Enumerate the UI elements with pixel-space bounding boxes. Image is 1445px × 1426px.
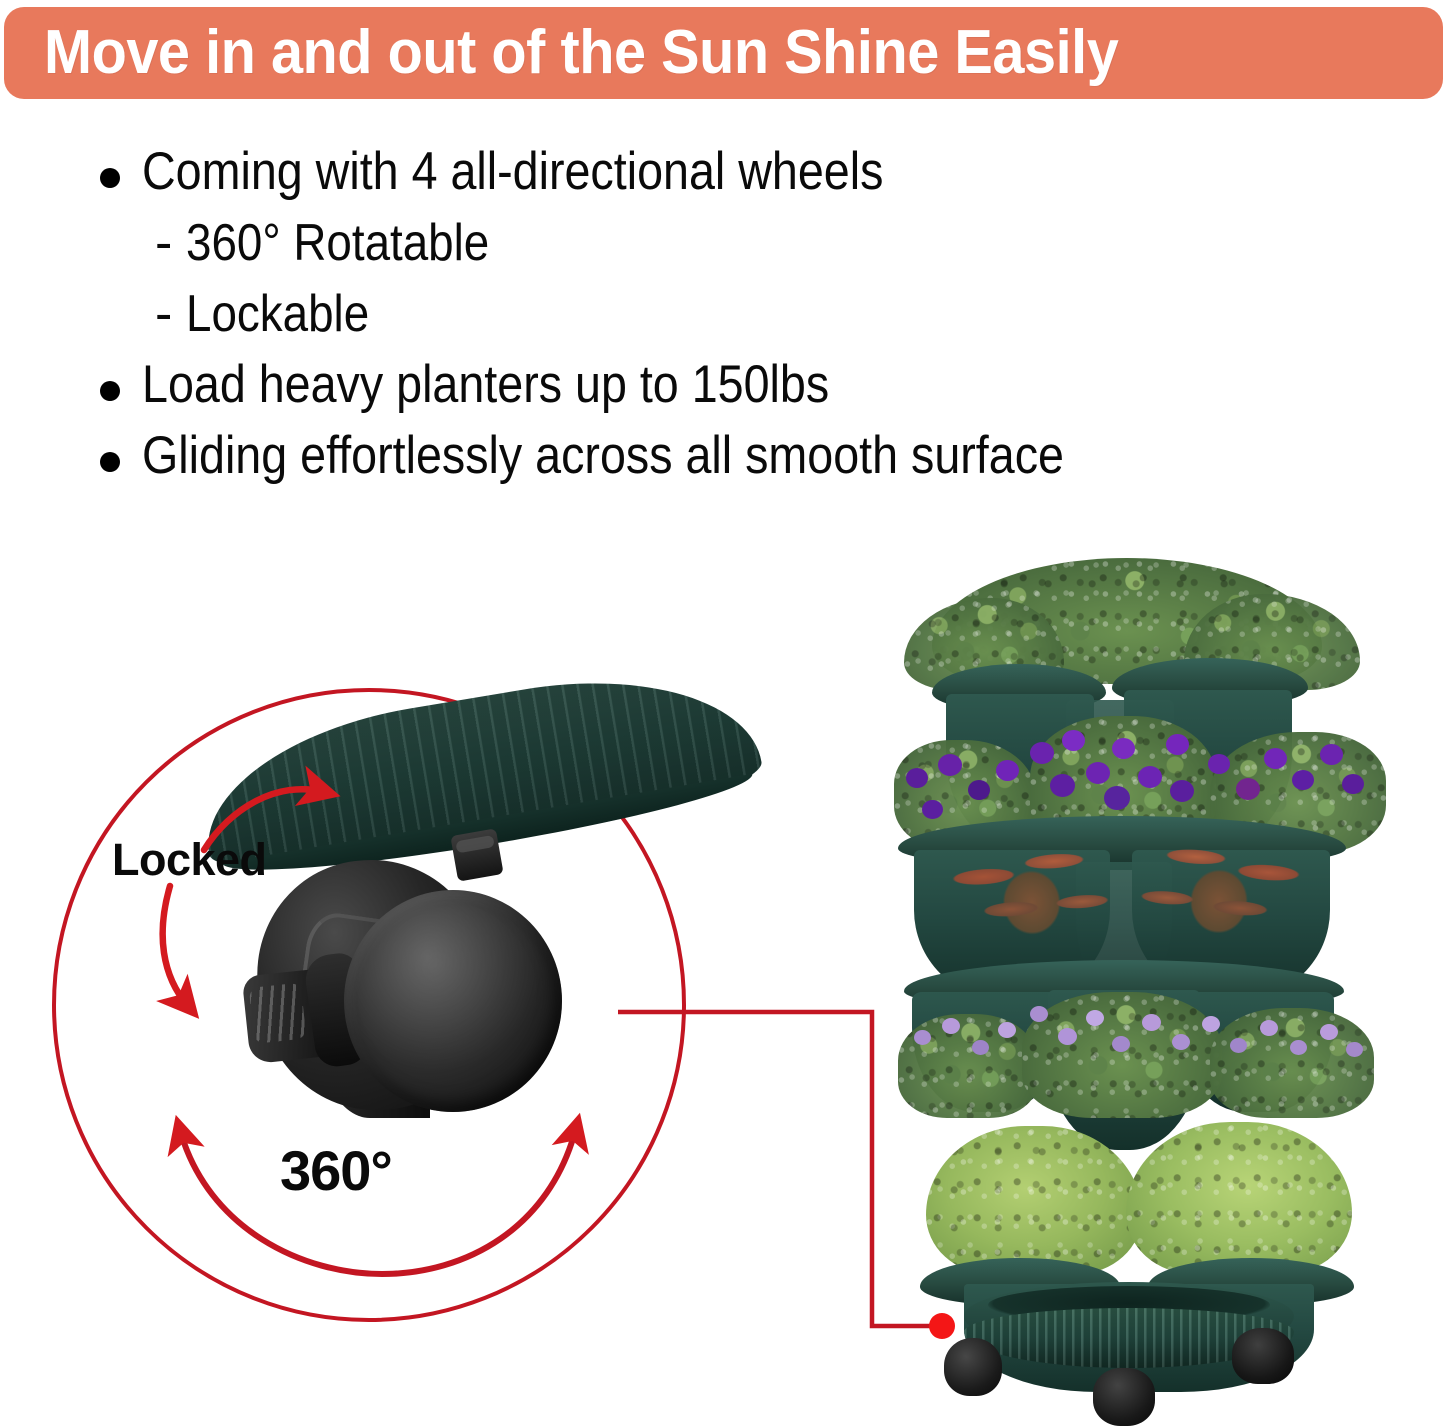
caster-front-center	[1093, 1368, 1155, 1426]
red-foliage-left	[922, 819, 1141, 965]
rotation-label: 360°	[280, 1138, 392, 1203]
callout-arrow-group	[52, 688, 686, 1322]
caster-rear-right	[1232, 1328, 1294, 1384]
feature-item-wheels: Coming with 4 all-directional wheels	[100, 142, 1430, 202]
feature-item-lockable: - Lockable	[155, 284, 1430, 344]
feature-label: Coming with 4 all-directional wheels	[142, 142, 883, 202]
red-foliage-right	[1112, 817, 1337, 966]
stackable-planter-tower	[880, 552, 1440, 1397]
feature-label: Gliding effortlessly across all smooth s…	[142, 426, 1064, 486]
feature-list: Coming with 4 all-directional wheels - 3…	[100, 142, 1430, 497]
feature-item-gliding: Gliding effortlessly across all smooth s…	[100, 426, 1430, 486]
feature-label: 360° Rotatable	[186, 213, 489, 273]
feature-item-rotatable: - 360° Rotatable	[155, 213, 1430, 273]
caster-front-left	[944, 1338, 1002, 1396]
dash-icon: -	[155, 213, 172, 273]
bullet-icon	[100, 452, 120, 472]
bullet-icon	[100, 381, 120, 401]
header-banner: Move in and out of the Sun Shine Easily	[4, 7, 1443, 99]
feature-label: Lockable	[186, 284, 369, 344]
feature-label: Load heavy planters up to 150lbs	[142, 355, 829, 415]
locked-down-arrow-icon	[163, 886, 188, 1006]
tier-lavender-bloom	[880, 960, 1440, 1150]
dash-icon: -	[155, 284, 172, 344]
page-title: Move in and out of the Sun Shine Easily	[44, 22, 1118, 84]
locked-label: Locked	[112, 834, 267, 886]
bullet-icon	[100, 168, 120, 188]
tier-wheeled-caddy	[880, 1282, 1440, 1400]
caster-closeup-callout: Locked 360°	[52, 688, 686, 1322]
feature-item-load: Load heavy planters up to 150lbs	[100, 355, 1430, 415]
